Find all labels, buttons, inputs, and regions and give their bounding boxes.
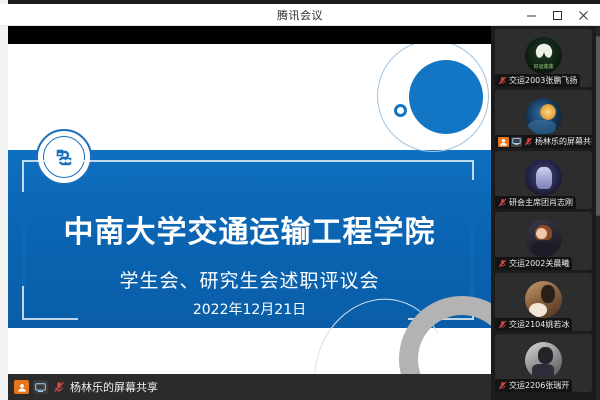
mic-muted-icon xyxy=(52,381,65,394)
window-title: 腾讯会议 xyxy=(277,7,323,23)
participant-name: 交运2206张瑞开 xyxy=(509,380,569,391)
participant-tile[interactable]: 好运莲莲 交运2003张鹏飞扬 xyxy=(495,29,592,87)
decor-blue-circle xyxy=(409,60,483,134)
participant-rail-scrollbar[interactable] xyxy=(596,26,600,400)
participant-name: 交运2002关晨曦 xyxy=(509,258,569,269)
mic-muted-icon xyxy=(498,198,507,207)
participant-name: 交运2104姚若冰 xyxy=(509,319,569,330)
presenter-status-bar: 杨林乐的屏幕共享 xyxy=(8,374,491,400)
participant-name-strip: 交运2003张鹏飞扬 xyxy=(495,74,580,87)
presentation-slide: 中南大学交通运输工程学院 学生会、研究生会述职评议会 2022年12月21日 xyxy=(8,44,491,374)
window-titlebar[interactable]: 腾讯会议 xyxy=(0,4,600,26)
participant-name-strip: 研会主席团肖志刚 xyxy=(495,196,576,209)
slide-title: 中南大学交通运输工程学院 xyxy=(8,207,491,251)
desktop-backdrop-left xyxy=(0,0,8,400)
mic-muted-icon xyxy=(498,259,507,268)
screen-share-icon xyxy=(511,137,522,147)
minimize-icon[interactable] xyxy=(518,4,544,26)
scrollbar-thumb[interactable] xyxy=(596,36,600,216)
avatar-caption: 好运莲莲 xyxy=(525,63,562,70)
participant-name-strip: 交运2206张瑞开 xyxy=(495,379,572,392)
participant-tile[interactable]: 研会主席团肖志刚 xyxy=(495,151,592,209)
tencent-meeting-window: 腾讯会议 xyxy=(0,0,600,400)
slide-subtitle: 学生会、研究生会述职评议会 xyxy=(8,266,491,293)
meeting-content: 中南大学交通运输工程学院 学生会、研究生会述职评议会 2022年12月21日 杨… xyxy=(8,26,600,400)
participant-name: 研会主席团肖志刚 xyxy=(509,197,573,208)
window-controls xyxy=(518,4,596,26)
presenter-name-label: 杨林乐的屏幕共享 xyxy=(70,379,158,395)
close-icon[interactable] xyxy=(570,4,596,26)
participant-tile[interactable]: 交运2104姚若冰 xyxy=(495,273,592,331)
host-icon xyxy=(498,137,509,147)
participant-tile[interactable]: 杨林乐的屏幕共享 xyxy=(495,90,592,148)
participant-name: 杨林乐的屏幕共享 xyxy=(535,136,592,147)
participant-name-strip: 杨林乐的屏幕共享 xyxy=(495,135,592,148)
avatar: 好运莲莲 xyxy=(525,37,562,74)
mic-muted-icon xyxy=(498,320,507,329)
avatar xyxy=(525,159,562,196)
participant-tile[interactable]: 交运2206张瑞开 xyxy=(495,334,592,392)
mic-muted-icon xyxy=(498,76,507,85)
mic-muted-icon xyxy=(524,137,533,146)
participant-name: 交运2003张鹏飞扬 xyxy=(509,75,577,86)
host-icon xyxy=(14,380,29,394)
maximize-icon[interactable] xyxy=(544,4,570,26)
avatar xyxy=(525,281,562,318)
decor-small-ring xyxy=(394,104,407,117)
participant-rail[interactable]: 好运莲莲 交运2003张鹏飞扬 xyxy=(491,26,600,400)
avatar xyxy=(525,98,562,135)
participant-name-strip: 交运2104姚若冰 xyxy=(495,318,572,331)
mic-muted-icon xyxy=(498,381,507,390)
avatar xyxy=(525,342,562,379)
screen-share-icon xyxy=(33,380,48,394)
avatar xyxy=(525,220,562,257)
shared-screen-stage[interactable]: 中南大学交通运输工程学院 学生会、研究生会述职评议会 2022年12月21日 杨… xyxy=(8,26,491,400)
participant-name-strip: 交运2002关晨曦 xyxy=(495,257,572,270)
participant-tile[interactable]: 交运2002关晨曦 xyxy=(495,212,592,270)
